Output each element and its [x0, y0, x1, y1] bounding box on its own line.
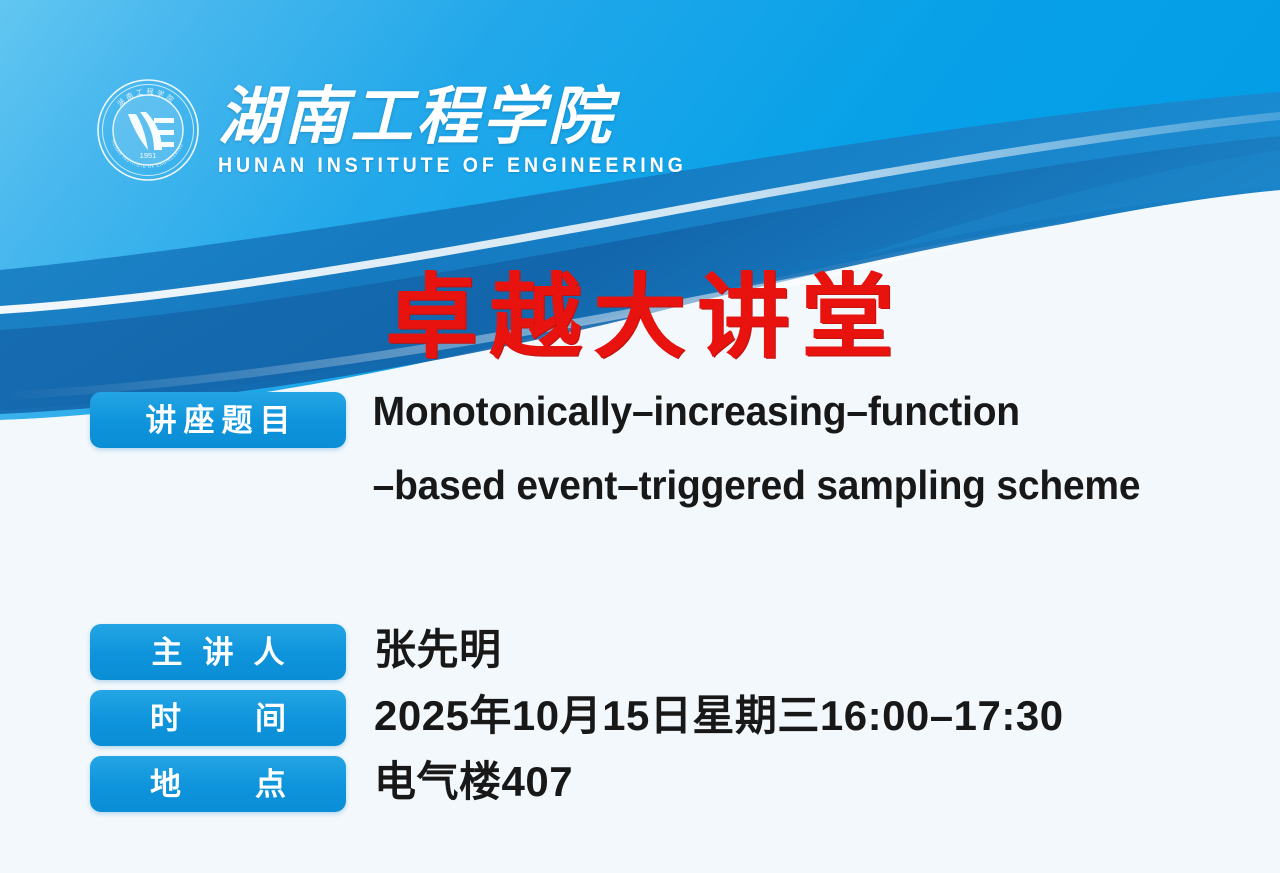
label-place-text: 地点 [76, 769, 360, 800]
university-name-en: HUNAN INSTITUTE OF ENGINEERING [218, 155, 687, 176]
lecture-details: 讲座题目 Monotonically–increasing–function –… [0, 392, 1280, 812]
university-name-cn: 湖南工程学院 [218, 84, 722, 151]
lecture-poster: 湖南工程学院 HUNAN INSTITUTE OF ENGINEERING 19… [0, 0, 1280, 873]
value-topic-line1: Monotonically–increasing–function [373, 388, 1020, 434]
label-speaker-text: 主讲人 [132, 637, 305, 668]
label-speaker: 主讲人 [90, 624, 346, 680]
value-place: 电气楼407 [346, 758, 1280, 807]
university-crest-icon: 湖南工程学院 HUNAN INSTITUTE OF ENGINEERING 19… [96, 78, 200, 182]
detail-row-time: 时间 2025年10月15日星期三16:00–17:30 [0, 690, 1280, 746]
university-wordmark: 湖南工程学院 HUNAN INSTITUTE OF ENGINEERING [218, 84, 722, 176]
label-place: 地点 [90, 756, 346, 812]
label-topic-text: 讲座题目 [139, 405, 298, 436]
value-time: 2025年10月15日星期三16:00–17:30 [346, 692, 1280, 741]
label-time-text: 时间 [76, 703, 360, 734]
university-identity: 湖南工程学院 HUNAN INSTITUTE OF ENGINEERING 19… [96, 78, 722, 182]
detail-row-speaker: 主讲人 张先明 [0, 624, 1280, 680]
value-speaker: 张先明 [346, 626, 1280, 675]
detail-row-place: 地点 电气楼407 [0, 756, 1280, 812]
value-topic: Monotonically–increasing–function –based… [346, 388, 1233, 509]
label-topic: 讲座题目 [90, 392, 346, 448]
label-time: 时间 [90, 690, 346, 746]
detail-row-topic: 讲座题目 Monotonically–increasing–function –… [0, 392, 1280, 509]
svg-text:1951: 1951 [140, 151, 157, 160]
value-topic-line2: –based event–triggered sampling scheme [373, 462, 1234, 510]
banner-wave-graphic [0, 0, 1280, 420]
